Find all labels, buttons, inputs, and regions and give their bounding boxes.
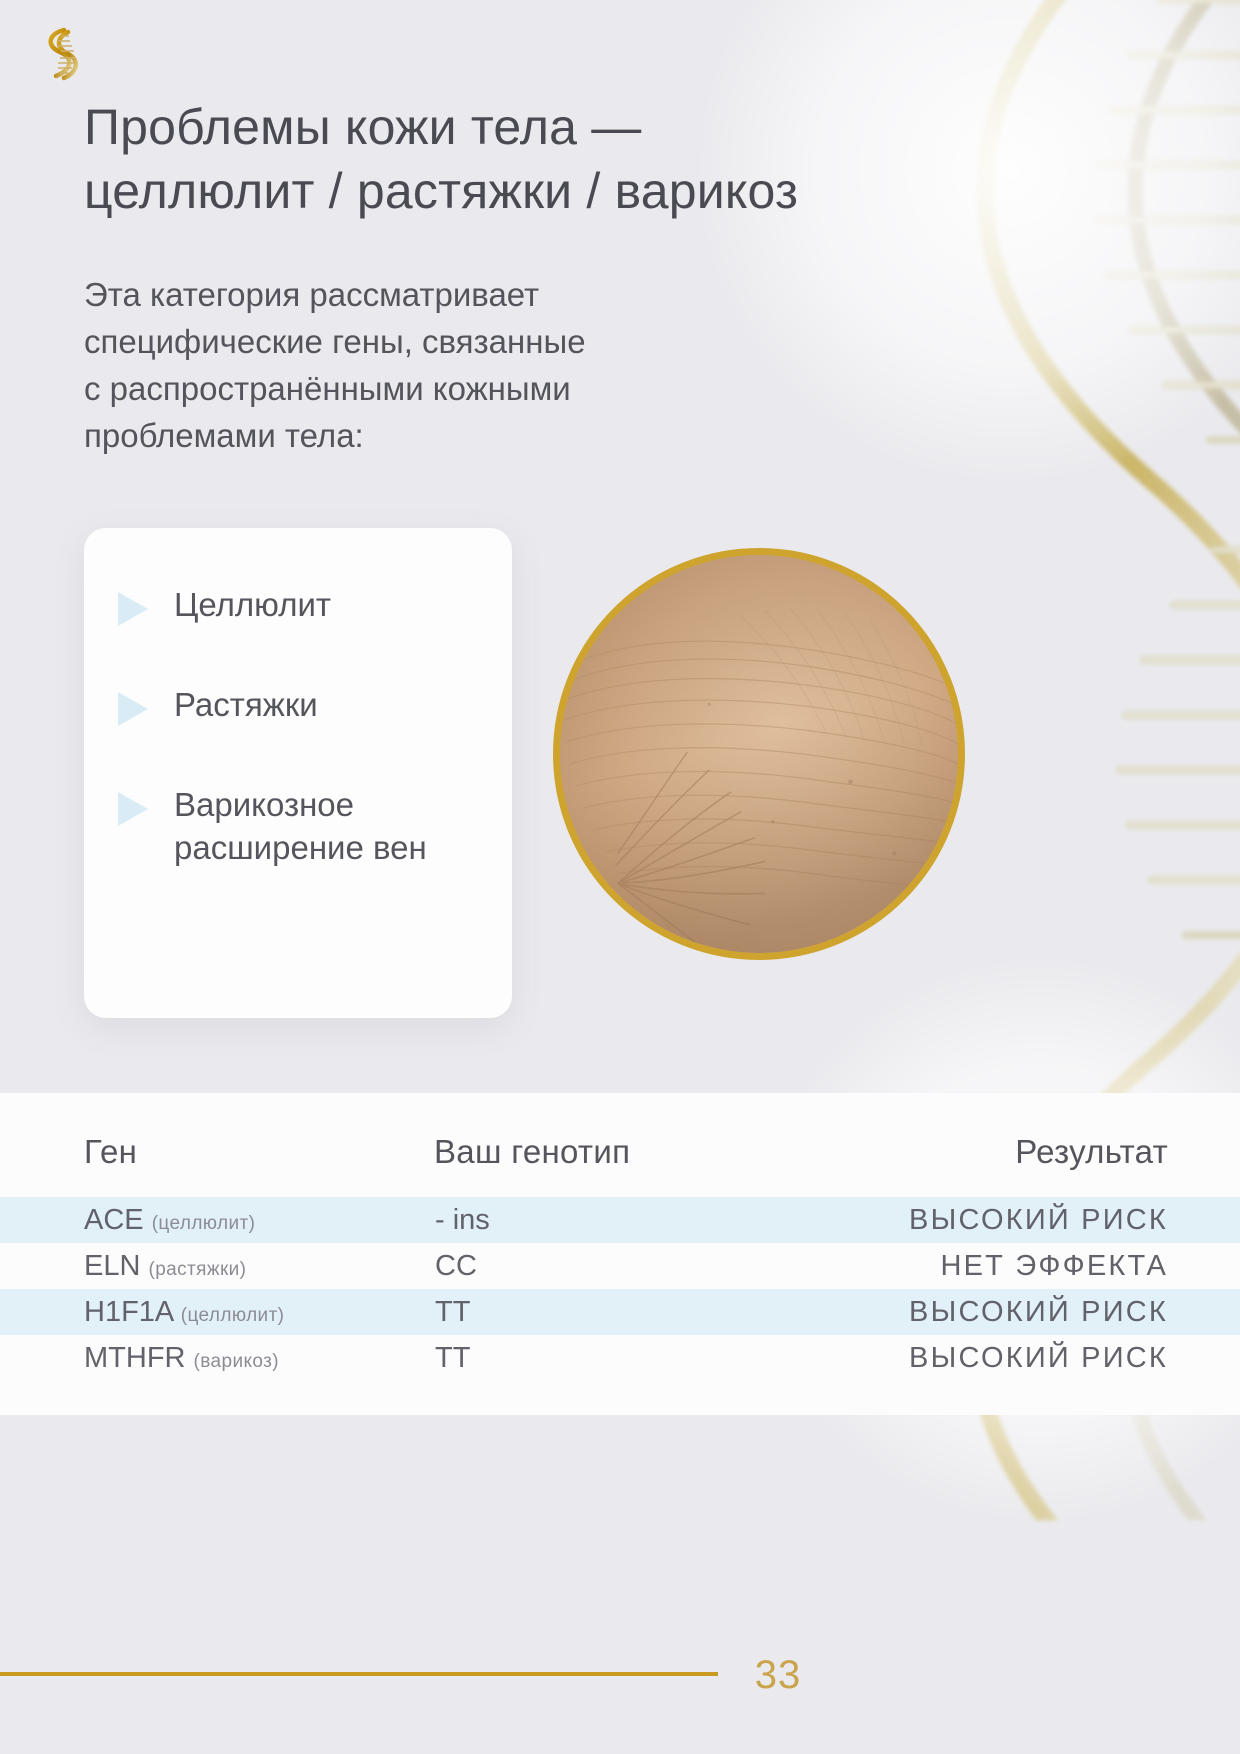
page-title-line-2: целлюлит / растяжки / варикоз xyxy=(84,160,964,224)
dna-helix-logo-icon xyxy=(34,22,82,84)
table-header-row: Ген Ваш генотип Результат xyxy=(0,1111,1240,1197)
skin-closeup-photo xyxy=(553,548,965,960)
intro-line-4: проблемами тела: xyxy=(84,413,824,460)
list-item-label: Варикозное расширение вен xyxy=(174,784,478,868)
intro-line-1: Эта категория рассматривает xyxy=(84,272,824,319)
gene-note: (целлюлит) xyxy=(152,1213,256,1234)
list-item: Растяжки xyxy=(118,684,478,726)
cell-gene: MTHFR (варикоз) xyxy=(0,1335,434,1381)
list-item-label: Целлюлит xyxy=(174,584,331,626)
intro-paragraph: Эта категория рассматривает специфически… xyxy=(84,272,824,459)
gene-note: (варикоз) xyxy=(194,1351,279,1372)
cell-genotype: TT xyxy=(434,1289,834,1335)
page-title-line-1: Проблемы кожи тела — xyxy=(84,96,964,160)
cell-gene: ELN (растяжки) xyxy=(0,1243,434,1289)
skin-photo-image xyxy=(560,555,958,953)
gene-name: ACE xyxy=(84,1204,144,1236)
gene-note: (целлюлит) xyxy=(181,1305,285,1326)
table-row: ACE (целлюлит) - ins ВЫСОКИЙ РИСК xyxy=(0,1197,1240,1243)
intro-line-3: с распространёнными кожными xyxy=(84,366,824,413)
cell-gene: H1F1A (целлюлит) xyxy=(0,1289,434,1335)
column-header-result: Результат xyxy=(834,1111,1240,1197)
conditions-card: Целлюлит Растяжки Варикозное расширение … xyxy=(84,528,512,1018)
triangle-right-icon xyxy=(118,792,148,826)
table-row: H1F1A (целлюлит) TT ВЫСОКИЙ РИСК xyxy=(0,1289,1240,1335)
column-header-genotype: Ваш генотип xyxy=(434,1111,834,1197)
list-item-label: Растяжки xyxy=(174,684,318,726)
column-header-gene: Ген xyxy=(0,1111,434,1197)
triangle-right-icon xyxy=(118,692,148,726)
gene-name: ELN xyxy=(84,1250,140,1282)
gene-note: (растяжки) xyxy=(148,1259,246,1280)
cell-genotype: CC xyxy=(434,1243,834,1289)
list-item: Варикозное расширение вен xyxy=(118,784,478,868)
intro-line-2: специфические гены, связанные xyxy=(84,319,824,366)
cell-genotype: TT xyxy=(434,1335,834,1381)
cell-result: ВЫСОКИЙ РИСК xyxy=(834,1197,1240,1243)
genes-table: Ген Ваш генотип Результат ACE (целлюлит)… xyxy=(0,1111,1240,1381)
gene-name: H1F1A xyxy=(84,1296,173,1328)
table-row: ELN (растяжки) CC НЕТ ЭФФЕКТА xyxy=(0,1243,1240,1289)
cell-result: НЕТ ЭФФЕКТА xyxy=(834,1243,1240,1289)
report-page: Проблемы кожи тела — целлюлит / растяжки… xyxy=(0,0,1240,1754)
table-row: MTHFR (варикоз) TT ВЫСОКИЙ РИСК xyxy=(0,1335,1240,1381)
cell-gene: ACE (целлюлит) xyxy=(0,1197,434,1243)
page-title: Проблемы кожи тела — целлюлит / растяжки… xyxy=(84,96,964,223)
list-item: Целлюлит xyxy=(118,584,478,626)
footer-rule xyxy=(0,1672,718,1676)
triangle-right-icon xyxy=(118,592,148,626)
page-footer: 33 xyxy=(0,1494,1240,1754)
gene-name: MTHFR xyxy=(84,1342,185,1374)
cell-result: ВЫСОКИЙ РИСК xyxy=(834,1289,1240,1335)
page-number: 33 xyxy=(718,1653,838,1698)
genes-table-section: Ген Ваш генотип Результат ACE (целлюлит)… xyxy=(0,1093,1240,1415)
cell-result: ВЫСОКИЙ РИСК xyxy=(834,1335,1240,1381)
cell-genotype: - ins xyxy=(434,1197,834,1243)
